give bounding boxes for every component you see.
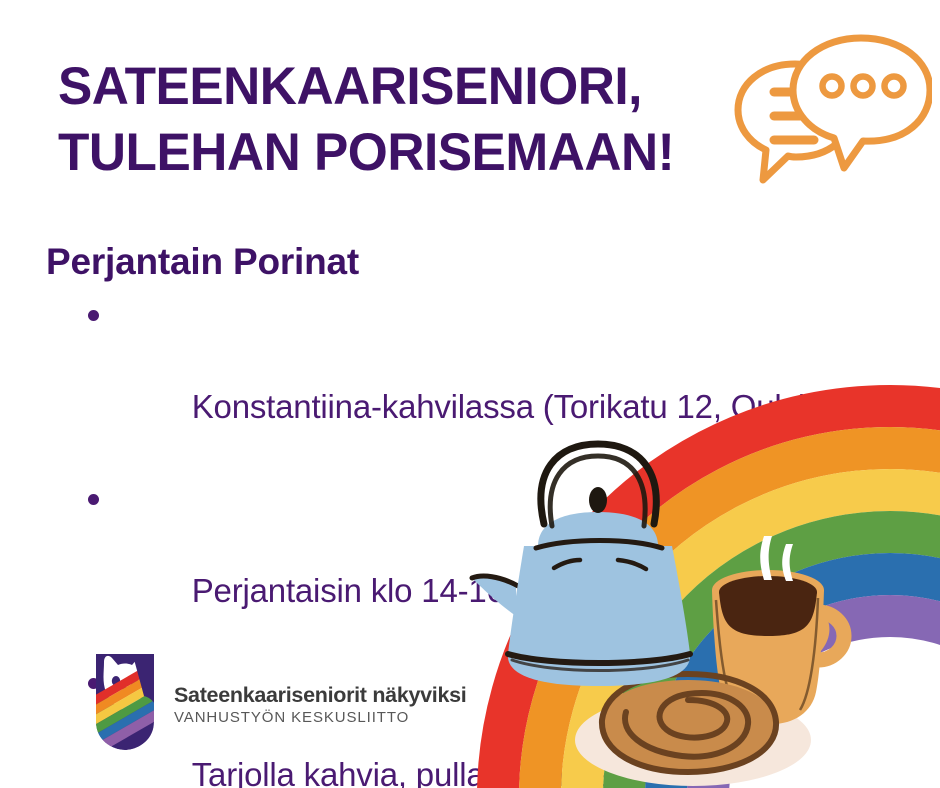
title-line-1: SATEENKAARISENIORI, <box>58 54 727 120</box>
logo-title: Sateenkaariseniorit näkyviksi <box>174 682 466 708</box>
logo-subtitle: VANHUSTYÖN KESKUSLIITTO <box>174 708 466 728</box>
list-item-label: Konstantiina-kahvilassa (Torikatu 12, Ou… <box>192 384 811 430</box>
body-subhead: Perjantain Porinat <box>46 240 926 284</box>
list-item-label: Perjantaisin klo 14-16 <box>192 568 505 614</box>
logo-text-block: Sateenkaariseniorit näkyviksi VANHUSTYÖN… <box>174 676 466 728</box>
list-item: Konstantiina-kahvilassa (Torikatu 12, Ou… <box>46 292 926 476</box>
list-item-label: Tarjolla kahvia, pullaa ja hyvää <box>192 752 633 788</box>
speech-bubbles-icon <box>722 28 932 188</box>
organization-logo: Sateenkaariseniorit näkyviksi VANHUSTYÖN… <box>92 652 466 752</box>
bullet-dot <box>88 494 99 505</box>
poster-canvas: SATEENKAARISENIORI, TULEHAN PORISEMAAN! … <box>0 0 940 788</box>
poster-title: SATEENKAARISENIORI, TULEHAN PORISEMAAN! <box>58 54 748 186</box>
list-item: Perjantaisin klo 14-16 <box>46 476 926 660</box>
bullet-dot <box>88 310 99 321</box>
owl-rainbow-logo-mark <box>92 652 158 752</box>
title-line-2: TULEHAN PORISEMAAN! <box>58 120 727 186</box>
